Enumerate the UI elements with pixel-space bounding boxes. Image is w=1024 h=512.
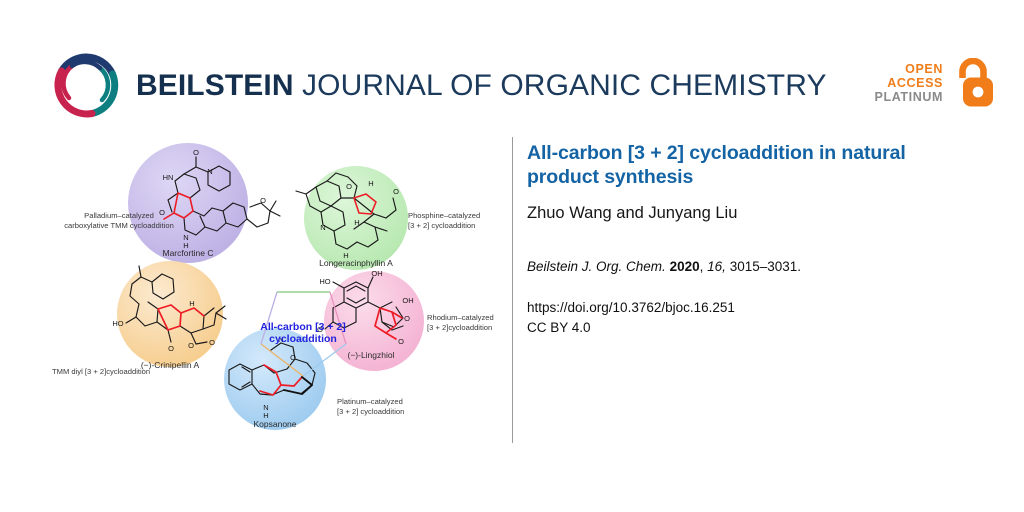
journal-wordmark: BEILSTEIN JOURNAL OF ORGANIC CHEMISTRY [136,71,827,101]
molecule-name-marcfortine: Marcfortine C [162,248,213,258]
caption-phosphine-line2: [3 + 2] cycloaddition [408,221,475,230]
article-title: All-carbon [3 + 2] cycloaddition in natu… [527,142,967,190]
open-access-badge[interactable]: OPEN ACCESS PLATINUM [875,58,996,108]
node-longeracinphyllin[interactable]: O H O N H H Longeracinphyllin A [296,166,408,270]
open-lock-icon [950,58,996,108]
node-crinipellin[interactable]: HO O O O H (−)-Crinipellin A [112,261,226,370]
citation-comma: , [700,259,704,274]
article-metadata-pane: All-carbon [3 + 2] cycloaddition in natu… [527,142,967,338]
center-label-line1: All-carbon [3 + 2] [260,321,345,333]
caption-tmm-line1: TMM diyl [3 + 2]cycloaddition [52,367,150,376]
svg-text:N: N [320,223,325,232]
caption-rhodium-line1: Rhodium–catalyzed [427,313,494,322]
svg-text:O: O [398,337,404,346]
svg-text:H: H [354,218,359,227]
svg-text:O: O [290,353,296,362]
caption-phosphine: Phosphine–catalyzed [3 + 2] cycloadditio… [408,211,480,230]
svg-text:H: H [189,299,194,308]
journal-branding[interactable]: BEILSTEIN JOURNAL OF ORGANIC CHEMISTRY [52,52,827,120]
article-doi-link[interactable]: https://doi.org/10.3762/bjoc.16.251 [527,298,967,318]
svg-text:O: O [209,338,215,347]
svg-text:N: N [207,167,212,176]
article-authors: Zhuo Wang and Junyang Liu [527,203,967,224]
caption-palladium-line1: Palladium–catalyzed [84,211,154,220]
citation-year: 2020 [670,259,700,274]
caption-platinum-line1: Platinum–catalyzed [337,397,403,406]
open-access-labels: OPEN ACCESS PLATINUM [875,62,943,104]
molecule-name-longeracinphyllin: Longeracinphyllin A [319,258,393,268]
svg-text:OH: OH [371,269,382,278]
oa-label-platinum: PLATINUM [875,90,943,104]
caption-rhodium: Rhodium–catalyzed [3 + 2]cycloaddition [427,313,494,332]
citation-pages: 3015–3031. [730,259,801,274]
caption-platinum: Platinum–catalyzed [3 + 2] cycloaddition [337,397,404,416]
column-divider [512,137,513,443]
wordmark-beilstein: BEILSTEIN [136,69,294,102]
caption-rhodium-line2: [3 + 2]cycloaddition [427,323,492,332]
svg-text:OH: OH [402,296,413,305]
svg-text:O: O [159,208,165,217]
article-license: CC BY 4.0 [527,318,967,338]
svg-text:O: O [346,182,352,191]
molecule-name-lingzhiol: (−)-Lingzhiol [347,350,394,360]
svg-text:HN: HN [163,173,174,182]
caption-tmm: TMM diyl [3 + 2]cycloaddition [52,367,150,376]
caption-platinum-line2: [3 + 2] cycloaddition [337,407,404,416]
svg-text:O: O [193,148,199,157]
caption-phosphine-line1: Phosphine–catalyzed [408,211,480,220]
svg-text:O: O [188,341,194,350]
citation-volume: 16, [707,259,726,274]
wordmark-subtitle: JOURNAL OF ORGANIC CHEMISTRY [302,69,827,102]
svg-text:O: O [404,314,410,323]
svg-text:HO: HO [112,319,123,328]
beilstein-swirl-logo-icon [52,52,120,120]
citation-journal: Beilstein J. Org. Chem. [527,259,666,274]
svg-text:H: H [368,179,373,188]
molecule-name-kopsanone: Kopsanone [253,419,296,429]
caption-palladium-line2: carboxylative TMM cycloaddition [64,221,174,230]
svg-text:HO: HO [319,277,330,286]
svg-text:O: O [260,196,266,205]
center-label-line2: cycloaddition [269,333,337,345]
svg-text:O: O [393,187,399,196]
oa-label-access: ACCESS [875,76,943,90]
page-masthead: BEILSTEIN JOURNAL OF ORGANIC CHEMISTRY O… [0,0,1024,132]
svg-text:O: O [168,344,174,353]
node-marcfortine[interactable]: O HN N O N H O Marcfortine C [128,143,280,263]
oa-label-open: OPEN [875,62,943,76]
graphical-abstract: O HN N O N H O Marcfortine C [44,136,504,446]
article-citation: Beilstein J. Org. Chem. 2020, 16, 3015–3… [527,258,967,276]
node-lingzhiol[interactable]: OH HO O OH O O (−)-Lingzhiol [317,269,424,371]
